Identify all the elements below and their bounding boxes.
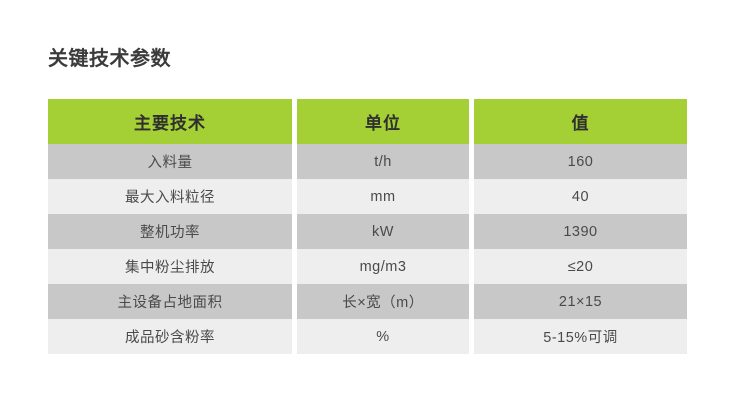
cell-value: 1390 bbox=[472, 214, 687, 249]
cell-value: 21×15 bbox=[472, 284, 687, 319]
column-header-unit: 单位 bbox=[295, 99, 472, 144]
table-row: 成品砂含粉率 % 5-15%可调 bbox=[48, 319, 687, 354]
cell-unit: t/h bbox=[295, 144, 472, 179]
cell-tech: 主设备占地面积 bbox=[48, 284, 295, 319]
table-row: 最大入料粒径 mm 40 bbox=[48, 179, 687, 214]
cell-unit: kW bbox=[295, 214, 472, 249]
cell-tech: 最大入料粒径 bbox=[48, 179, 295, 214]
cell-tech: 入料量 bbox=[48, 144, 295, 179]
cell-value: 5-15%可调 bbox=[472, 319, 687, 354]
table-row: 集中粉尘排放 mg/m3 ≤20 bbox=[48, 249, 687, 284]
cell-unit: mm bbox=[295, 179, 472, 214]
table-body: 入料量 t/h 160 最大入料粒径 mm 40 整机功率 kW 1390 集中… bbox=[48, 144, 687, 354]
key-technical-parameters-table: 主要技术 单位 值 入料量 t/h 160 最大入料粒径 mm 40 整机功率 … bbox=[48, 99, 687, 354]
column-header-value: 值 bbox=[472, 99, 687, 144]
table-row: 整机功率 kW 1390 bbox=[48, 214, 687, 249]
table-header: 主要技术 单位 值 bbox=[48, 99, 687, 144]
cell-value: 40 bbox=[472, 179, 687, 214]
table-row: 入料量 t/h 160 bbox=[48, 144, 687, 179]
page-title: 关键技术参数 bbox=[48, 45, 171, 73]
table-header-row: 主要技术 单位 值 bbox=[48, 99, 687, 144]
table-row: 主设备占地面积 长×宽（m） 21×15 bbox=[48, 284, 687, 319]
cell-unit: mg/m3 bbox=[295, 249, 472, 284]
cell-tech: 整机功率 bbox=[48, 214, 295, 249]
cell-tech: 成品砂含粉率 bbox=[48, 319, 295, 354]
page-root: 关键技术参数 主要技术 单位 值 入料量 t/h 160 最大入料粒径 mm 4… bbox=[0, 0, 734, 411]
cell-unit: 长×宽（m） bbox=[295, 284, 472, 319]
cell-value: 160 bbox=[472, 144, 687, 179]
cell-value: ≤20 bbox=[472, 249, 687, 284]
cell-unit: % bbox=[295, 319, 472, 354]
column-header-tech: 主要技术 bbox=[48, 99, 295, 144]
cell-tech: 集中粉尘排放 bbox=[48, 249, 295, 284]
